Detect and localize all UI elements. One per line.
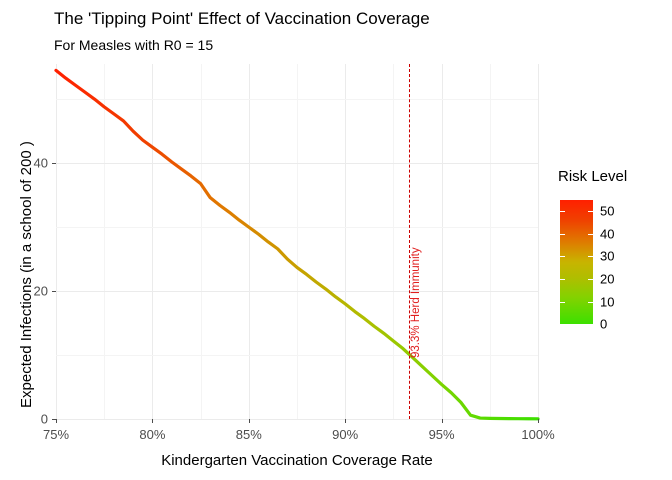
x-tick-mark <box>249 419 250 423</box>
x-tick-mark <box>538 419 539 423</box>
legend-tick-mark <box>560 234 565 235</box>
legend-tick-label: 30 <box>600 249 614 264</box>
y-tick-mark <box>52 419 56 420</box>
legend-tick-label: 50 <box>600 204 614 219</box>
legend-tick-mark <box>588 211 593 212</box>
x-tick-label: 85% <box>236 427 262 442</box>
legend-colorbar <box>560 200 593 324</box>
y-tick-label: 0 <box>41 412 48 427</box>
legend-tick-label: 0 <box>600 317 607 332</box>
gridline-major-horizontal <box>56 419 538 420</box>
herd-immunity-label: 93.3% Herd Immunity <box>410 248 422 359</box>
y-axis-title: Expected Infections (in a school of 200 … <box>18 141 35 408</box>
legend-tick-label: 40 <box>600 226 614 241</box>
plot-panel: 93.3% Herd Immunity <box>56 64 538 419</box>
y-tick-label: 20 <box>34 284 48 299</box>
y-tick-mark <box>52 291 56 292</box>
x-tick-label: 95% <box>429 427 455 442</box>
x-tick-label: 75% <box>43 427 69 442</box>
legend-tick-mark <box>560 256 565 257</box>
y-tick-mark <box>52 163 56 164</box>
chart-subtitle: For Measles with R0 = 15 <box>54 37 213 53</box>
legend-tick-mark <box>588 256 593 257</box>
x-axis-title: Kindergarten Vaccination Coverage Rate <box>56 452 538 469</box>
x-tick-mark <box>56 419 57 423</box>
legend-tick-label: 20 <box>600 271 614 286</box>
gridline-major-vertical <box>538 64 539 419</box>
legend-tick-mark <box>588 302 593 303</box>
legend-tick-mark <box>588 234 593 235</box>
legend-tick-mark <box>560 211 565 212</box>
x-tick-mark <box>152 419 153 423</box>
legend-title: Risk Level <box>558 168 627 185</box>
chart-title: The 'Tipping Point' Effect of Vaccinatio… <box>54 9 430 29</box>
x-tick-label: 80% <box>139 427 165 442</box>
x-tick-mark <box>442 419 443 423</box>
legend-tick-label: 10 <box>600 294 614 309</box>
x-tick-label: 100% <box>521 427 554 442</box>
x-tick-label: 90% <box>332 427 358 442</box>
legend-tick-mark <box>588 279 593 280</box>
y-tick-label: 40 <box>34 156 48 171</box>
x-tick-mark <box>345 419 346 423</box>
legend-tick-mark <box>560 302 565 303</box>
legend-tick-mark <box>560 279 565 280</box>
herd-immunity-line <box>409 64 410 419</box>
chart-root: The 'Tipping Point' Effect of Vaccinatio… <box>0 0 672 480</box>
infection-curve <box>56 64 538 419</box>
